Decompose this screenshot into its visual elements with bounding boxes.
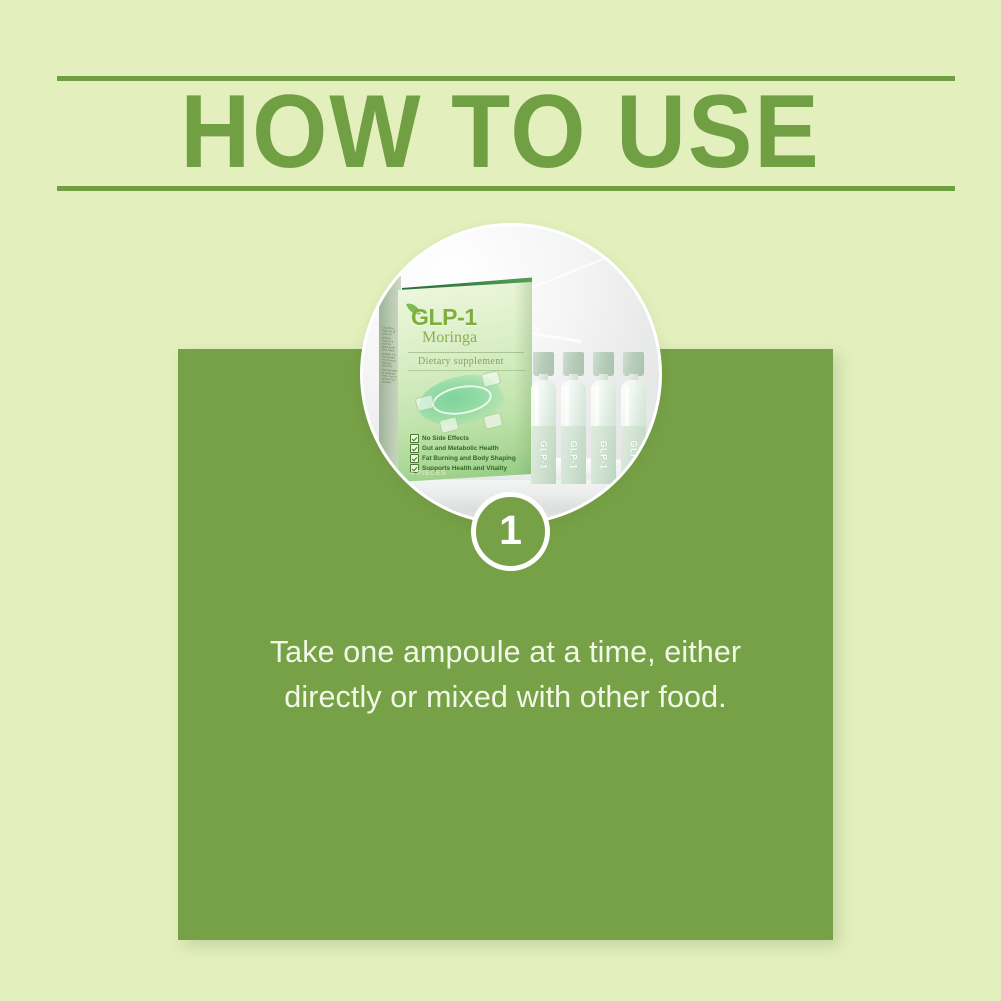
product-benefit-list: No Side Effects Gut and Metabolic Health… <box>410 434 530 474</box>
product-box-artwork <box>410 370 530 432</box>
ampoule-cap <box>563 352 584 376</box>
ampoule-cap <box>623 352 644 376</box>
ampoule: GLP-1 <box>531 352 556 484</box>
ampoule-label-text: GLP-1 <box>569 440 579 469</box>
product-benefit-label: Gut and Metabolic Health <box>422 445 499 453</box>
ampoule: GLP-1 <box>591 352 616 484</box>
product-benefit-item: No Side Effects <box>410 434 530 443</box>
ampoule-label-text: GLP-1 <box>599 440 609 469</box>
product-brand: GLP-1 <box>411 304 477 331</box>
product-benefit-item: Fat Burning and Body Shaping <box>410 454 530 463</box>
product-count-label: 4 PIECES <box>410 470 446 477</box>
product-photo-backdrop: CAUTION: Keep out of reach of children. … <box>363 226 659 522</box>
step-instruction: Take one ampoule at a time, either direc… <box>178 630 833 720</box>
step-number-badge: 1 <box>471 492 550 571</box>
ampoule-label: GLP-1 <box>621 426 646 484</box>
ampoule-cap <box>593 352 614 376</box>
header-rule-bottom <box>57 186 955 191</box>
mini-ampoule-illustration <box>483 412 504 430</box>
page-title: HOW TO USE <box>35 78 966 186</box>
ampoule-label-text: GLP-1 <box>629 440 639 469</box>
product-box-side-panel: CAUTION: Keep out of reach of children. … <box>379 274 401 484</box>
product-category: Dietary supplement <box>418 356 504 367</box>
product-box-shading <box>514 282 532 482</box>
checkbox-check-icon <box>410 444 419 453</box>
product-benefit-label: Fat Burning and Body Shaping <box>422 455 516 463</box>
ampoule-group: GLP-1 GLP-1 <box>531 352 651 492</box>
step-instruction-line-1: Take one ampoule at a time, either <box>218 630 793 675</box>
product-box-front-face: GLP-1 Moringa Dietary supplement <box>398 282 532 482</box>
mini-ampoule-illustration <box>439 416 460 434</box>
step-number: 1 <box>499 510 522 551</box>
product-box-side-text: CAUTION: Keep out of reach of children. … <box>382 326 397 446</box>
product-photo: CAUTION: Keep out of reach of children. … <box>363 226 659 522</box>
checkbox-check-icon <box>410 434 419 443</box>
ampoule: GLP-1 <box>561 352 586 484</box>
product-box: CAUTION: Keep out of reach of children. … <box>379 268 531 484</box>
ampoule-label: GLP-1 <box>561 426 586 484</box>
step-instruction-line-2: directly or mixed with other food. <box>218 675 793 720</box>
ampoule-label: GLP-1 <box>531 426 556 484</box>
product-benefit-item: Gut and Metabolic Health <box>410 444 530 453</box>
product-box-divider <box>408 352 524 353</box>
ampoule-label-text: GLP-1 <box>539 440 549 469</box>
checkbox-check-icon <box>410 454 419 463</box>
ampoule: GLP-1 <box>621 352 646 484</box>
ampoule-cap <box>533 352 554 376</box>
product-variant: Moringa <box>422 329 477 347</box>
product-benefit-label: No Side Effects <box>422 435 469 443</box>
how-to-use-infographic: HOW TO USE Take one ampoule at a time, e… <box>0 0 1001 1001</box>
ampoule-label: GLP-1 <box>591 426 616 484</box>
backdrop-streak <box>520 226 659 294</box>
